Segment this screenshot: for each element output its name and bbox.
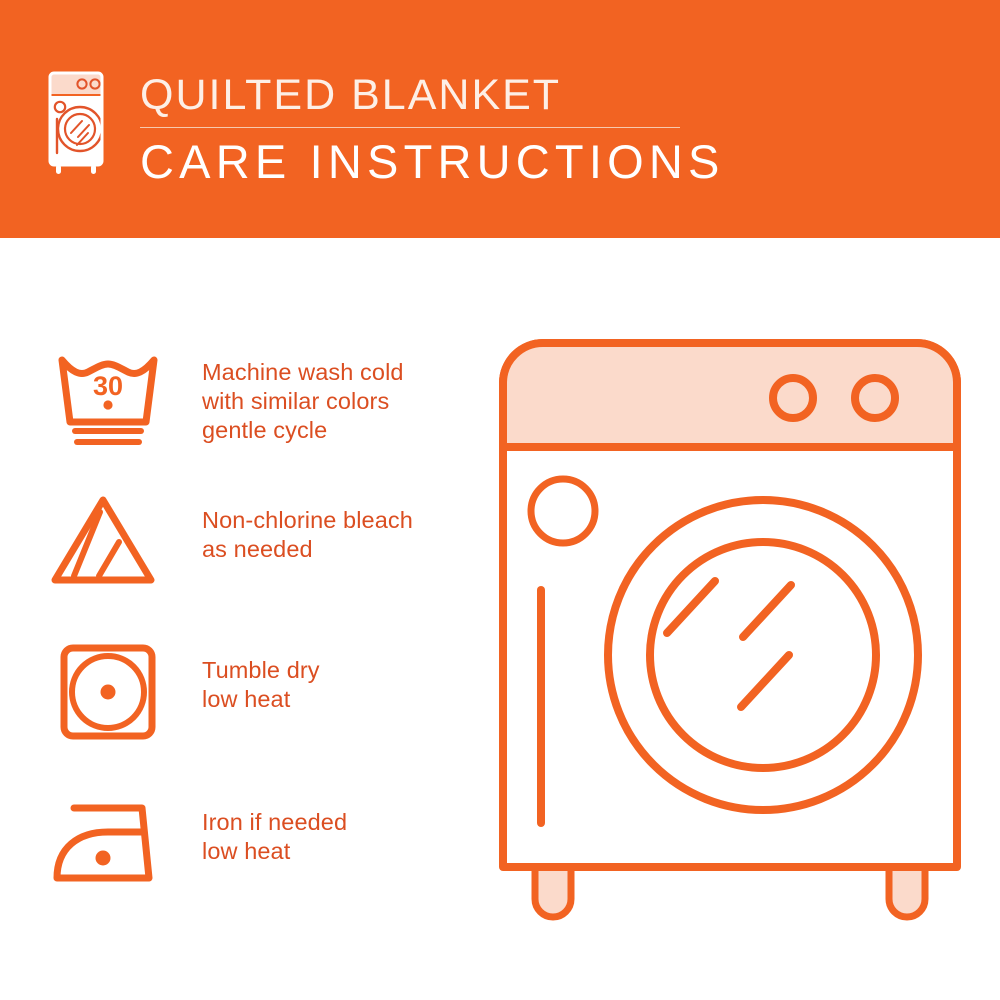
care-text-line: with similar colors [202, 387, 404, 416]
care-text-line: low heat [202, 685, 320, 714]
title-divider [140, 127, 680, 128]
care-text-line: Machine wash cold [202, 358, 404, 387]
knob-right [855, 378, 895, 418]
care-instruction-row: Non-chlorine bleach as needed [0, 480, 480, 630]
non-chlorine-bleach-triangle-icon [48, 490, 168, 600]
care-text-line: gentle cycle [202, 416, 404, 445]
care-instructions-list: 30 Machine wash cold with similar colors… [0, 330, 480, 930]
wash-tub-30-gentle-icon: 30 [48, 342, 168, 452]
header-titles: QUILTED BLANKET CARE INSTRUCTIONS [140, 70, 700, 190]
care-text-line: Tumble dry [202, 656, 320, 685]
care-instruction-row: 30 Machine wash cold with similar colors… [0, 330, 480, 480]
knob-left [773, 378, 813, 418]
front-load-washing-machine-illustration [495, 335, 965, 935]
care-instruction-text: Machine wash cold with similar colors ge… [202, 358, 404, 445]
care-instruction-text: Tumble dry low heat [202, 656, 320, 714]
washing-machine-icon [44, 67, 108, 177]
header-band: QUILTED BLANKET CARE INSTRUCTIONS [0, 0, 1000, 238]
wash-temperature-value: 30 [93, 371, 123, 401]
care-instruction-text: Non-chlorine bleach as needed [202, 506, 413, 564]
tumble-dry-low-heat-icon [48, 636, 168, 746]
care-text-line: Iron if needed [202, 808, 347, 837]
care-text-line: as needed [202, 535, 413, 564]
page-subtitle: CARE INSTRUCTIONS [140, 134, 700, 190]
care-instruction-row: Iron if needed low heat [0, 780, 480, 930]
page-title: QUILTED BLANKET [140, 70, 700, 120]
care-text-line: low heat [202, 837, 347, 866]
care-instruction-text: Iron if needed low heat [202, 808, 347, 866]
care-text-line: Non-chlorine bleach [202, 506, 413, 535]
care-instruction-row: Tumble dry low heat [0, 630, 480, 780]
iron-low-heat-icon [48, 792, 168, 902]
